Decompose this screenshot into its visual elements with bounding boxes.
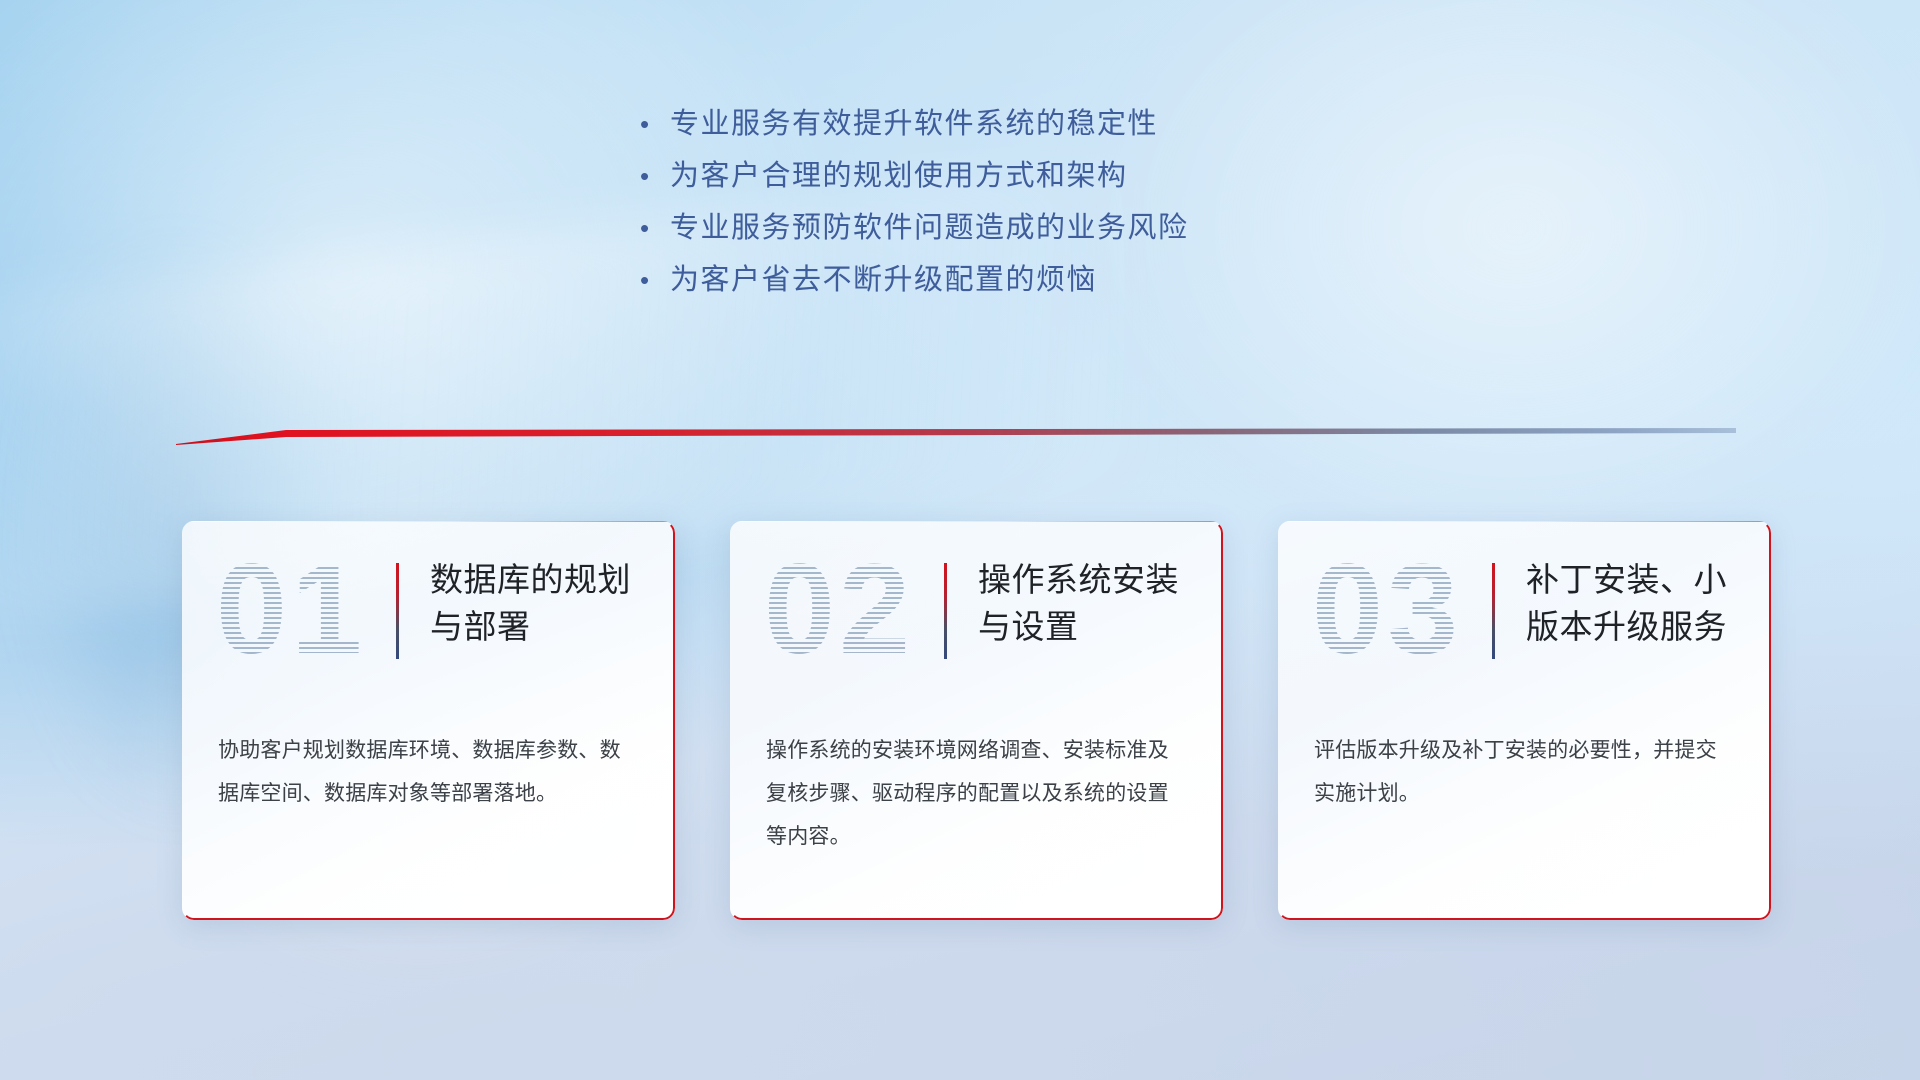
- bullet-item-label: 专业服务有效提升软件系统的稳定性: [670, 110, 1158, 139]
- card-number-watermark: 01: [196, 521, 386, 702]
- card-description: 评估版本升级及补丁安装的必要性，并提交实施计划。: [1314, 729, 1734, 815]
- benefits-bullet-list: • 专业服务有效提升软件系统的稳定性 • 为客户合理的规划使用方式和架构 • 专…: [640, 110, 1189, 318]
- card-number-watermark: 03: [1292, 521, 1482, 702]
- service-card-list: 01 数据库的规划与部署 协助客户规划数据库环境、数据库参数、数据库空间、数据库…: [182, 521, 1772, 920]
- bullet-dot-icon: •: [640, 111, 670, 137]
- service-card-03[interactable]: 03 补丁安装、小版本升级服务 评估版本升级及补丁安装的必要性，并提交实施计划。: [1278, 521, 1771, 920]
- bullet-item-label: 专业服务预防软件问题造成的业务风险: [670, 214, 1189, 243]
- card-header: 01 数据库的规划与部署: [182, 521, 675, 701]
- bullet-item-label: 为客户合理的规划使用方式和架构: [670, 162, 1128, 191]
- card-title: 操作系统安装与设置: [978, 557, 1206, 651]
- list-item: • 专业服务有效提升软件系统的稳定性: [640, 110, 1189, 162]
- card-header: 02 操作系统安装与设置: [730, 521, 1223, 701]
- card-title-rule: [1492, 563, 1495, 659]
- card-description: 操作系统的安装环境网络调查、安装标准及复核步骤、驱动程序的配置以及系统的设置等内…: [766, 729, 1186, 858]
- service-card-02[interactable]: 02 操作系统安装与设置 操作系统的安装环境网络调查、安装标准及复核步骤、驱动程…: [730, 521, 1223, 920]
- card-title-rule: [396, 563, 399, 659]
- list-item: • 为客户省去不断升级配置的烦恼: [640, 266, 1189, 318]
- list-item: • 为客户合理的规划使用方式和架构: [640, 162, 1189, 214]
- card-description: 协助客户规划数据库环境、数据库参数、数据库空间、数据库对象等部署落地。: [218, 729, 638, 815]
- card-title: 数据库的规划与部署: [430, 557, 658, 651]
- card-number-watermark: 02: [744, 521, 934, 702]
- list-item: • 专业服务预防软件问题造成的业务风险: [640, 214, 1189, 266]
- card-title-rule: [944, 563, 947, 659]
- bullet-item-label: 为客户省去不断升级配置的烦恼: [670, 266, 1097, 295]
- service-card-01[interactable]: 01 数据库的规划与部署 协助客户规划数据库环境、数据库参数、数据库空间、数据库…: [182, 521, 675, 920]
- section-divider: [176, 424, 1736, 446]
- bullet-dot-icon: •: [640, 267, 670, 293]
- bullet-dot-icon: •: [640, 215, 670, 241]
- card-header: 03 补丁安装、小版本升级服务: [1278, 521, 1771, 701]
- bullet-dot-icon: •: [640, 163, 670, 189]
- card-title: 补丁安装、小版本升级服务: [1526, 557, 1754, 651]
